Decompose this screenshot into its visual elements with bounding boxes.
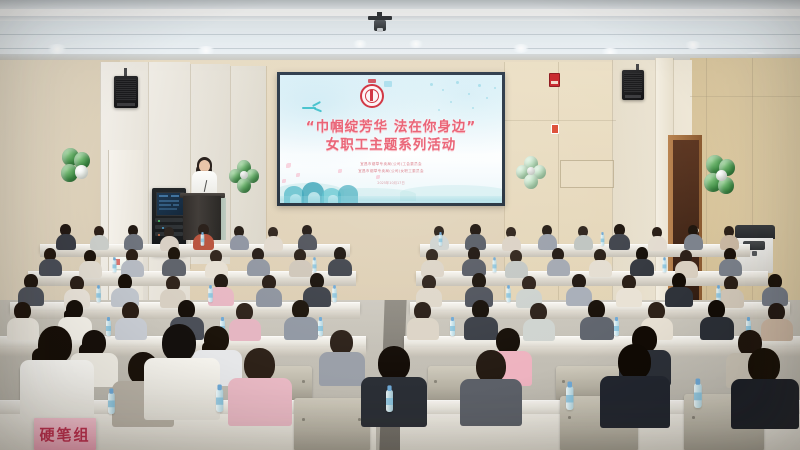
projection-screen: “巾帼绽芳华 法在你身边” 女职工主题系列活动 宜昌市烟草专卖局(公司)工会委员… <box>280 75 502 203</box>
water-bottle[interactable] <box>113 260 117 273</box>
ceiling-band-light <box>0 9 800 16</box>
ceiling-downlight <box>46 44 68 54</box>
petal-illustration <box>296 173 300 177</box>
water-bottle[interactable] <box>694 383 702 408</box>
emblem-ribbon <box>368 79 376 83</box>
water-bottle[interactable] <box>614 320 619 336</box>
wall-access-panel <box>560 160 614 188</box>
balloon-cluster-left <box>60 148 94 188</box>
ceiling-seam <box>0 48 800 49</box>
water-bottle[interactable] <box>96 288 101 302</box>
ceiling-downlight <box>684 41 702 49</box>
water-bottle[interactable] <box>439 234 443 246</box>
balloon-cluster-center-left <box>229 160 261 196</box>
water-bottle[interactable] <box>506 288 511 302</box>
ceiling-downlight <box>512 44 530 53</box>
wall-speaker-icon <box>114 76 138 108</box>
petal-illustration <box>376 175 380 179</box>
water-bottle[interactable] <box>216 389 223 412</box>
water-bottle[interactable] <box>601 234 605 246</box>
balloon-cluster-right <box>700 155 738 201</box>
tent-card-label: 硬笔组 <box>39 424 90 445</box>
water-bottle[interactable] <box>106 320 111 336</box>
desk-front-row-b <box>416 279 768 286</box>
slide-bottom-band <box>280 196 502 203</box>
trade-union-emblem-icon <box>360 84 384 108</box>
fire-alarm-icon <box>549 73 560 87</box>
ceiling-band-inner <box>0 16 800 21</box>
fire-alarm-call-point-icon <box>551 124 559 134</box>
conference-hall-photo: “巾帼绽芳华 法在你身边” 女职工主题系列活动 宜昌市烟草专卖局(公司)工会委员… <box>0 0 800 450</box>
wall-seam <box>266 66 267 246</box>
wall-seam <box>690 96 800 97</box>
slide-title-line2: 女职工主题系列活动 <box>280 133 502 153</box>
water-bottle[interactable] <box>332 288 337 302</box>
petal-illustration <box>282 179 286 183</box>
wall-seam <box>504 120 616 121</box>
water-bottle[interactable] <box>386 390 393 412</box>
water-bottle[interactable] <box>566 386 574 410</box>
water-bottle[interactable] <box>313 260 317 273</box>
water-bottle[interactable] <box>201 234 205 246</box>
slide-title-line1: “巾帼绽芳华 法在你身边” <box>280 115 502 135</box>
crane-illustration-icon <box>302 103 324 113</box>
ceiling-band-outer <box>0 0 800 9</box>
ceiling <box>0 0 800 62</box>
water-bottle[interactable] <box>493 260 497 273</box>
petal-illustration <box>338 169 342 173</box>
ceiling-seam <box>0 34 800 35</box>
slide-subtitle-line2: 宜昌市烟草专卖局(公司)女职工委员会 <box>280 169 502 174</box>
ceiling-downlight <box>352 40 368 48</box>
wall-speaker-icon <box>622 70 644 100</box>
left-wall-panel <box>230 66 266 246</box>
water-bottle[interactable] <box>663 260 667 273</box>
water-bottle[interactable] <box>450 320 455 336</box>
wall-seam <box>230 66 231 251</box>
chair[interactable] <box>294 398 370 450</box>
table-tent-card: 硬笔组 <box>34 418 96 450</box>
balloon-cluster-center-right <box>516 156 548 192</box>
petal-illustration <box>286 163 291 168</box>
emblem-accent <box>384 81 392 87</box>
ceiling-projector-icon <box>368 12 392 32</box>
water-bottle[interactable] <box>318 320 323 336</box>
water-bottle[interactable] <box>108 392 115 414</box>
ceiling-downlight <box>408 40 424 48</box>
slide-subtitle-line1: 宜昌市烟草专卖局(公司)工会委员会 <box>280 162 502 167</box>
water-bottle[interactable] <box>208 288 213 302</box>
